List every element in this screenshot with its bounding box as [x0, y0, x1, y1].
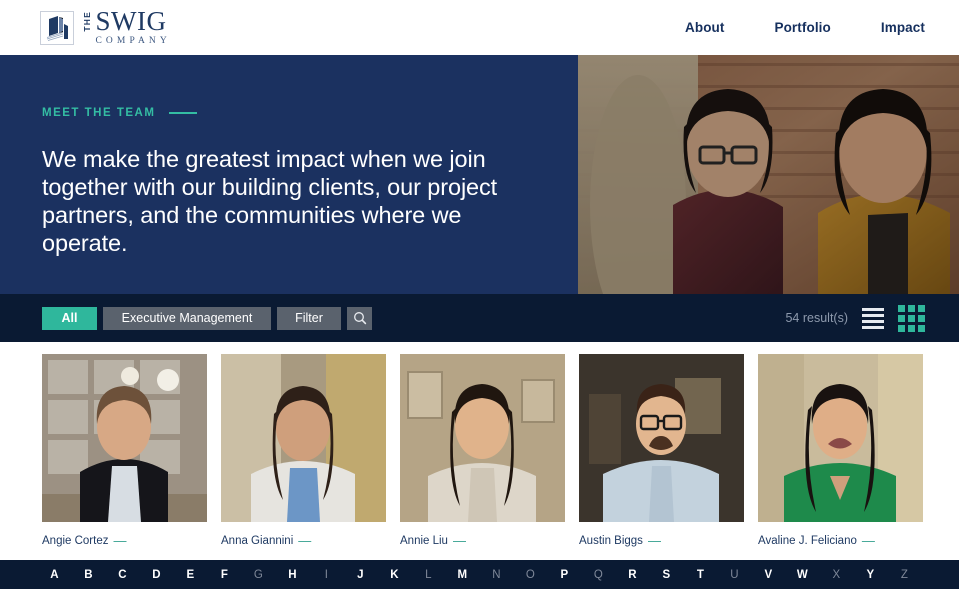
alpha-link-q[interactable]: Q: [582, 569, 616, 581]
grid-cell: [918, 315, 925, 322]
grid-view-toggle[interactable]: [898, 305, 925, 332]
filter-chip-all[interactable]: All: [42, 307, 97, 330]
person-card[interactable]: Avaline J. Feliciano —: [758, 354, 923, 554]
view-controls: 54 result(s): [785, 305, 925, 332]
nav-item-portfolio[interactable]: Portfolio: [774, 20, 830, 35]
person-name: Austin Biggs: [579, 535, 643, 547]
person-dash: —: [113, 534, 126, 547]
grid-cell: [898, 315, 905, 322]
person-name-row[interactable]: Anna Giannini —: [221, 534, 386, 547]
people-grid: Angie Cortez — Anna Giannini —: [0, 342, 959, 554]
site-header: THE SWIG COMPANY About Portfolio Impact: [0, 0, 959, 55]
person-card[interactable]: Annie Liu —: [400, 354, 565, 554]
filter-chip-group: All Executive Management Filter: [42, 307, 372, 330]
grid-cell: [908, 315, 915, 322]
alpha-link-o[interactable]: O: [514, 569, 548, 581]
grid-cell: [898, 325, 905, 332]
alpha-link-j[interactable]: J: [344, 569, 378, 581]
alpha-link-e[interactable]: E: [174, 569, 208, 581]
alpha-link-m[interactable]: M: [446, 569, 480, 581]
list-bar: [862, 320, 884, 323]
alpha-link-z[interactable]: Z: [888, 569, 922, 581]
hero-eyebrow-rule: [169, 112, 197, 114]
hero-photo: [578, 55, 959, 294]
result-count: 54 result(s): [785, 311, 848, 325]
list-bar: [862, 326, 884, 329]
hero-eyebrow: MEET THE TEAM: [42, 107, 512, 119]
grid-cell: [918, 325, 925, 332]
list-view-toggle[interactable]: [862, 308, 884, 329]
alpha-link-k[interactable]: K: [378, 569, 412, 581]
logo-the-text: THE: [83, 11, 92, 32]
person-card[interactable]: Anna Giannini —: [221, 354, 386, 554]
person-photo[interactable]: [579, 354, 744, 522]
person-photo[interactable]: [42, 354, 207, 522]
nav-item-about[interactable]: About: [685, 20, 724, 35]
alpha-link-y[interactable]: Y: [854, 569, 888, 581]
grid-cell: [908, 305, 915, 312]
alpha-link-p[interactable]: P: [548, 569, 582, 581]
hero-section: MEET THE TEAM We make the greatest impac…: [0, 55, 959, 294]
person-card[interactable]: Austin Biggs —: [579, 354, 744, 554]
main-navigation: About Portfolio Impact: [685, 20, 925, 35]
logo-swig-text: SWIG: [96, 9, 171, 34]
grid-cell: [898, 305, 905, 312]
alpha-link-c[interactable]: C: [106, 569, 140, 581]
person-name-row[interactable]: Angie Cortez —: [42, 534, 207, 547]
person-card[interactable]: Angie Cortez —: [42, 354, 207, 554]
building-logo-icon: [40, 11, 74, 45]
hero-heading: We make the greatest impact when we join…: [42, 145, 512, 257]
alpha-link-f[interactable]: F: [208, 569, 242, 581]
person-photo[interactable]: [221, 354, 386, 522]
alpha-link-t[interactable]: T: [684, 569, 718, 581]
person-name-row[interactable]: Annie Liu —: [400, 534, 565, 547]
search-icon[interactable]: [347, 307, 372, 330]
alpha-link-i[interactable]: I: [310, 569, 344, 581]
alpha-link-l[interactable]: L: [412, 569, 446, 581]
person-photo[interactable]: [400, 354, 565, 522]
alpha-link-a[interactable]: A: [38, 569, 72, 581]
filter-bar: All Executive Management Filter 54 resul…: [0, 294, 959, 342]
logo-company-text: COMPANY: [96, 35, 171, 47]
alpha-link-g[interactable]: G: [242, 569, 276, 581]
person-dash: —: [648, 534, 661, 547]
person-name: Anna Giannini: [221, 535, 293, 547]
grid-cell: [908, 325, 915, 332]
person-photo[interactable]: [758, 354, 923, 522]
site-logo[interactable]: THE SWIG COMPANY: [40, 9, 171, 47]
alpha-link-d[interactable]: D: [140, 569, 174, 581]
alpha-link-r[interactable]: R: [616, 569, 650, 581]
grid-cell: [918, 305, 925, 312]
filter-chip-filter[interactable]: Filter: [277, 307, 341, 330]
person-name-row[interactable]: Avaline J. Feliciano —: [758, 534, 923, 547]
person-name: Annie Liu: [400, 535, 448, 547]
alpha-link-s[interactable]: S: [650, 569, 684, 581]
person-name: Angie Cortez: [42, 535, 108, 547]
filter-chip-executive-management[interactable]: Executive Management: [103, 307, 271, 330]
alpha-link-v[interactable]: V: [752, 569, 786, 581]
alpha-link-x[interactable]: X: [820, 569, 854, 581]
hero-eyebrow-text: MEET THE TEAM: [42, 107, 155, 119]
list-bar: [862, 314, 884, 317]
list-bar: [862, 308, 884, 311]
alpha-link-h[interactable]: H: [276, 569, 310, 581]
person-dash: —: [862, 534, 875, 547]
alpha-link-n[interactable]: N: [480, 569, 514, 581]
alpha-link-w[interactable]: W: [786, 569, 820, 581]
person-name-row[interactable]: Austin Biggs —: [579, 534, 744, 547]
alpha-link-u[interactable]: U: [718, 569, 752, 581]
person-dash: —: [298, 534, 311, 547]
hero-copy: MEET THE TEAM We make the greatest impac…: [42, 107, 512, 257]
person-dash: —: [453, 534, 466, 547]
nav-item-impact[interactable]: Impact: [881, 20, 925, 35]
alpha-link-b[interactable]: B: [72, 569, 106, 581]
alphabet-filter-bar: A B C D E F G H I J K L M N O P Q R S T …: [0, 560, 959, 589]
person-name: Avaline J. Feliciano: [758, 535, 857, 547]
